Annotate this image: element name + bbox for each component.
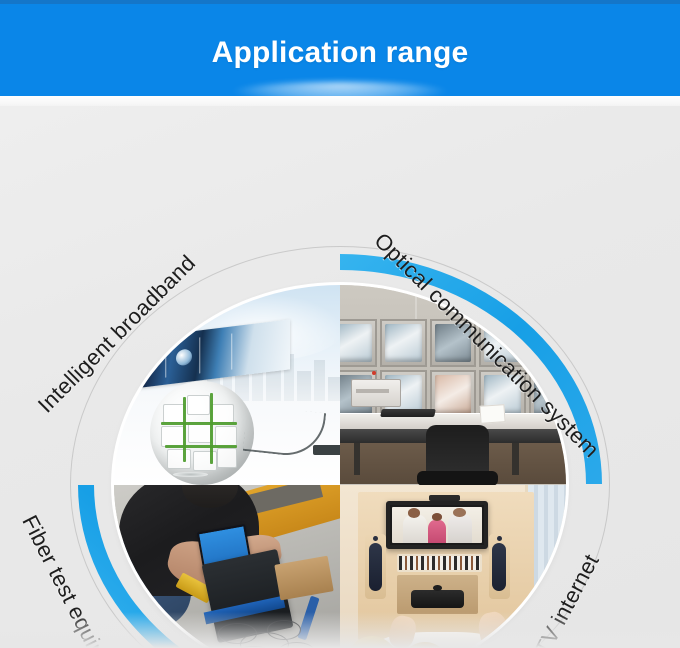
cable-connector	[313, 445, 340, 455]
banner-bottom-fade	[0, 96, 680, 106]
tv-person-left	[403, 515, 426, 542]
tower-speaker-right	[489, 534, 510, 599]
office-chair	[426, 425, 489, 477]
page-title: Application range	[212, 36, 469, 70]
bottom-vignette	[0, 612, 680, 648]
status-led	[372, 371, 376, 375]
center-speaker	[411, 590, 464, 608]
tv-picture	[392, 507, 482, 542]
content-stage: Intelligent broadband Optical communicat…	[0, 106, 680, 648]
desk-leg	[354, 443, 361, 475]
crt-monitor	[430, 370, 476, 418]
desk-document	[480, 404, 506, 424]
tv-person-right	[448, 514, 471, 542]
equipment-rack-panel	[351, 379, 400, 407]
television-screen	[386, 501, 488, 548]
network-sphere	[150, 381, 254, 485]
tv-person-child	[428, 520, 446, 543]
crt-monitor	[340, 319, 377, 367]
header-banner: Application range	[0, 4, 680, 96]
office-chair-seat	[417, 471, 498, 485]
application-range-page: Application range	[0, 0, 680, 648]
sphere-stand	[173, 472, 208, 477]
crt-monitor	[380, 319, 426, 367]
tower-speaker-left	[365, 534, 386, 599]
media-shelf	[397, 554, 482, 571]
desk-keyboard	[380, 409, 436, 417]
crt-monitor	[529, 319, 566, 367]
desk-leg	[512, 443, 519, 475]
